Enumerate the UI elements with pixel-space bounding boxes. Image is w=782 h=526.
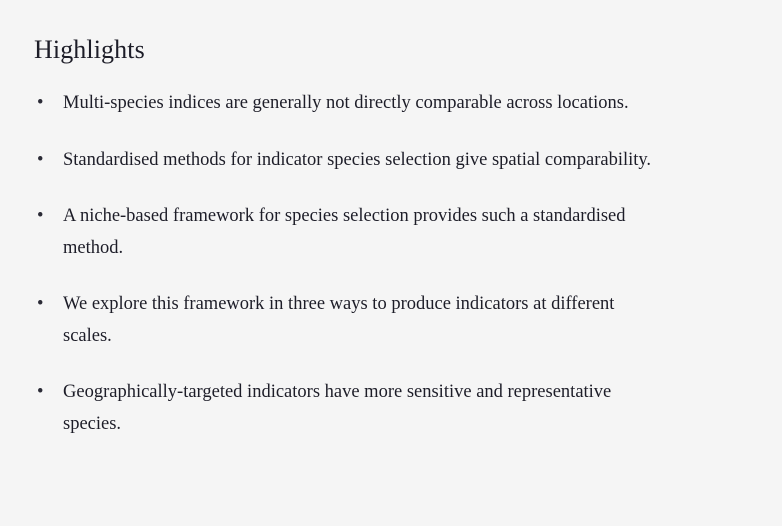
bullet-icon: • <box>37 88 49 120</box>
list-item-text: A niche-based framework for species sele… <box>63 201 654 264</box>
highlights-list: • Multi-species indices are generally no… <box>34 88 654 440</box>
page-title: Highlights <box>34 34 748 66</box>
list-item-text: We explore this framework in three ways … <box>63 289 654 352</box>
bullet-icon: • <box>37 377 49 409</box>
highlights-page: Highlights • Multi-species indices are g… <box>0 0 782 526</box>
bullet-icon: • <box>37 201 49 233</box>
list-item: • Multi-species indices are generally no… <box>34 88 654 120</box>
list-item: • Standardised methods for indicator spe… <box>34 145 654 177</box>
list-item-text: Geographically-targeted indicators have … <box>63 377 654 440</box>
list-item-text: Standardised methods for indicator speci… <box>63 145 654 177</box>
bullet-icon: • <box>37 289 49 321</box>
bullet-icon: • <box>37 145 49 177</box>
list-item: • We explore this framework in three way… <box>34 289 654 352</box>
list-item: • Geographically-targeted indicators hav… <box>34 377 654 440</box>
list-item-text: Multi-species indices are generally not … <box>63 88 654 120</box>
list-item: • A niche-based framework for species se… <box>34 201 654 264</box>
